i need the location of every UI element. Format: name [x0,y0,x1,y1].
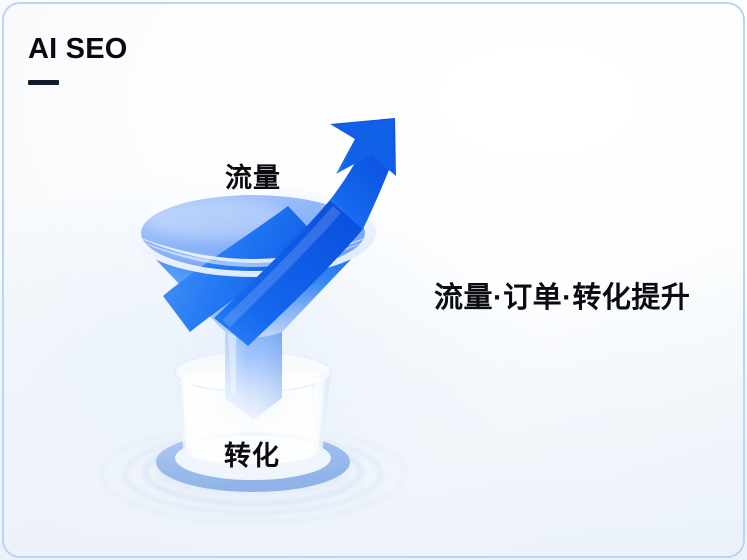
label-traffic: 流量 [225,156,281,195]
title-block: AI SEO [28,34,128,85]
illustration-canvas: 流量 转化 AI SEO 流量·订单·转化提升 [0,0,747,560]
tagline: 流量·订单·转化提升 [434,274,690,316]
page-title: AI SEO [28,34,128,64]
title-underline-rule [28,80,59,85]
label-conversion: 转化 [224,434,280,473]
